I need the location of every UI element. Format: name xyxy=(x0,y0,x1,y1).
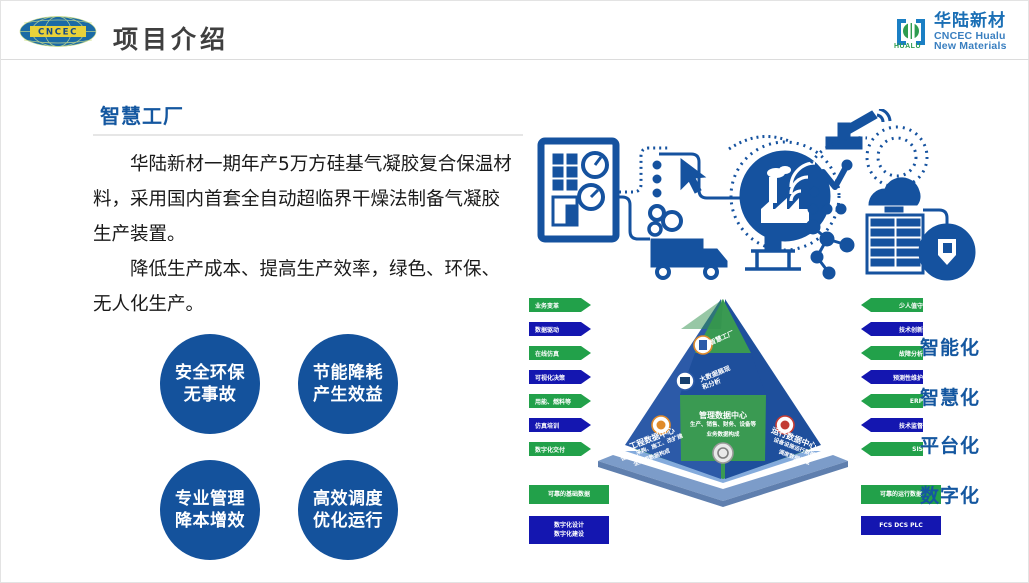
conveyor-box-icon xyxy=(765,237,781,249)
truck-icon xyxy=(651,239,727,278)
right-box-2[interactable]: FCS DCS PLC xyxy=(861,516,941,535)
page-title: 项目介绍 xyxy=(113,20,229,56)
benefit-circle-2-line2: 产生效益 xyxy=(313,384,383,406)
hualu-chinese-name: 华陆新材 xyxy=(934,13,1007,30)
benefit-circle-1[interactable]: 安全环保 无事故 xyxy=(160,334,260,434)
benefit-circle-3[interactable]: 专业管理 降本增效 xyxy=(160,460,260,560)
left-box-2-line2: 数字化建设 xyxy=(531,530,607,539)
hualu-brand-logo: HUALU 华陆新材 CNCEC Hualu New Materials xyxy=(894,14,1007,50)
molecule-icon xyxy=(806,220,854,279)
conveyor-icon xyxy=(745,251,801,269)
slide-root: CNCEC 项目介绍 HUALU 华陆新材 CNCEC Hualu New Ma… xyxy=(0,0,1029,583)
body-copy: 华陆新材一期年产5万方硅基气凝胶复合保温材料，采用国内首套全自动超临界干燥法制备… xyxy=(93,147,513,322)
benefit-circle-3-line1: 专业管理 xyxy=(175,488,245,510)
section-title: 智慧工厂 xyxy=(100,100,184,129)
body-paragraph-2: 降低生产成本、提高生产效率，绿色、环保、无人化生产。 xyxy=(93,252,513,322)
pyramid-center-sub1: 生产、销售、财务、设备等 xyxy=(683,422,763,428)
pyramid-tier2-icon xyxy=(676,372,694,390)
benefit-circle-3-line2: 降本增效 xyxy=(175,510,245,532)
pyramid-center-sub2: 业务数据构成 xyxy=(691,432,755,438)
slide-header: CNCEC 项目介绍 HUALU 华陆新材 CNCEC Hualu New Ma… xyxy=(1,1,1029,59)
cursor-arrow-icon xyxy=(681,159,705,193)
benefit-circle-1-line2: 无事故 xyxy=(184,384,237,406)
pyramid-center-title: 管理数据中心 xyxy=(691,411,755,420)
body-paragraph-1: 华陆新材一期年产5万方硅基气凝胶复合保温材料，采用国内首套全自动超临界干燥法制备… xyxy=(93,147,513,252)
control-panel-icon xyxy=(541,141,616,239)
dots-row-icon xyxy=(808,204,846,214)
header-divider xyxy=(1,59,1029,60)
hualu-mark-icon: HUALU xyxy=(894,15,928,49)
benefit-circle-2[interactable]: 节能降耗 产生效益 xyxy=(298,334,398,434)
shield-lock-icon xyxy=(919,224,975,280)
svg-text:CNCEC: CNCEC xyxy=(38,28,78,38)
cncec-globe-logo: CNCEC xyxy=(18,15,98,48)
level-label-2: 智慧化 xyxy=(920,383,980,410)
benefit-circle-4-line1: 高效调度 xyxy=(313,488,383,510)
benefit-circles: 安全环保 无事故 节能降耗 产生效益 专业管理 降本增效 高效调度 优化运行 xyxy=(160,334,420,560)
level-label-3: 平台化 xyxy=(920,431,980,458)
benefit-circle-4[interactable]: 高效调度 优化运行 xyxy=(298,460,398,560)
section-divider xyxy=(93,134,523,136)
right-box-2-line1: FCS DCS PLC xyxy=(863,521,939,530)
hualu-english-line2: New Materials xyxy=(934,41,1007,52)
level-label-1: 智能化 xyxy=(920,333,980,360)
left-box-2[interactable]: 数字化设计 数字化建设 xyxy=(529,516,609,544)
smart-factory-illustration xyxy=(529,109,1019,289)
benefit-circle-1-line1: 安全环保 xyxy=(175,362,245,384)
pyramid-graphic: 智慧工厂 大数据展现 和分析 管理数据中心 生产、销售、财务、设备等 业务数据构… xyxy=(573,293,833,508)
level-label-4: 数字化 xyxy=(920,481,980,508)
hualu-wordmark: 华陆新材 CNCEC Hualu New Materials xyxy=(934,13,1007,52)
benefit-circle-2-line1: 节能降耗 xyxy=(313,362,383,384)
pyramid-bottom-icon xyxy=(713,443,733,463)
server-rack-icon xyxy=(867,215,923,273)
status-dots-icon xyxy=(653,161,661,197)
robot-arm-icon xyxy=(826,109,890,149)
left-box-2-line1: 数字化设计 xyxy=(531,521,607,530)
gears-icon xyxy=(649,206,681,235)
cloud-icon xyxy=(869,178,920,212)
maturity-pyramid-diagram: 业务变革 数据驱动 在线仿真 可视化决策 用能、燃料等 仿真培训 数字化交付 可… xyxy=(523,293,1028,548)
hualu-mark-subtext: HUALU xyxy=(894,43,921,50)
benefit-circle-4-line2: 优化运行 xyxy=(313,510,383,532)
